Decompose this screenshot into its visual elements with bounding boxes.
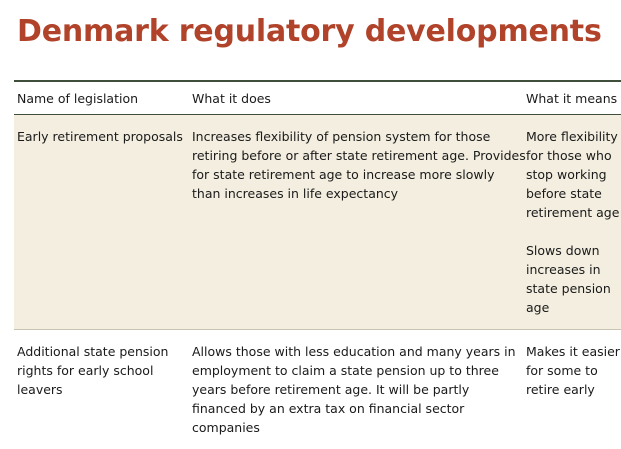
- legislation-name-text: Additional state pension rights for earl…: [17, 342, 192, 399]
- cell-legislation-name: Early retirement proposals: [14, 115, 192, 329]
- page-title: Denmark regulatory developments: [17, 14, 602, 49]
- legislation-name-text: Early retirement proposals: [17, 127, 192, 146]
- cell-what-it-means: Makes it easier for some to retire early: [526, 330, 621, 449]
- what-it-means-text-2: Slows down increases in state pension ag…: [526, 241, 621, 317]
- cell-legislation-name: Additional state pension rights for earl…: [14, 330, 192, 449]
- document-page: Denmark regulatory developments Name of …: [0, 0, 621, 414]
- what-it-means-text-1: More flexibility for those who stop work…: [526, 127, 621, 222]
- what-it-does-text: Allows those with less education and man…: [192, 342, 526, 437]
- what-it-means-text-1: Makes it easier for some to retire early: [526, 342, 621, 399]
- cell-what-it-does: Increases flexibility of pension system …: [192, 115, 526, 329]
- regulatory-developments-table: Name of legislation What it does What it…: [14, 80, 621, 449]
- column-header-what-it-means: What it means: [526, 91, 621, 106]
- cell-what-it-does: Allows those with less education and man…: [192, 330, 526, 449]
- what-it-does-text: Increases flexibility of pension system …: [192, 127, 526, 203]
- column-header-name: Name of legislation: [14, 91, 192, 106]
- column-header-what-it-does: What it does: [192, 91, 526, 106]
- cell-what-it-means: More flexibility for those who stop work…: [526, 115, 621, 329]
- table-row: Additional state pension rights for earl…: [14, 330, 621, 449]
- table-row: Early retirement proposals Increases fle…: [14, 115, 621, 329]
- table-header-row: Name of legislation What it does What it…: [14, 82, 621, 114]
